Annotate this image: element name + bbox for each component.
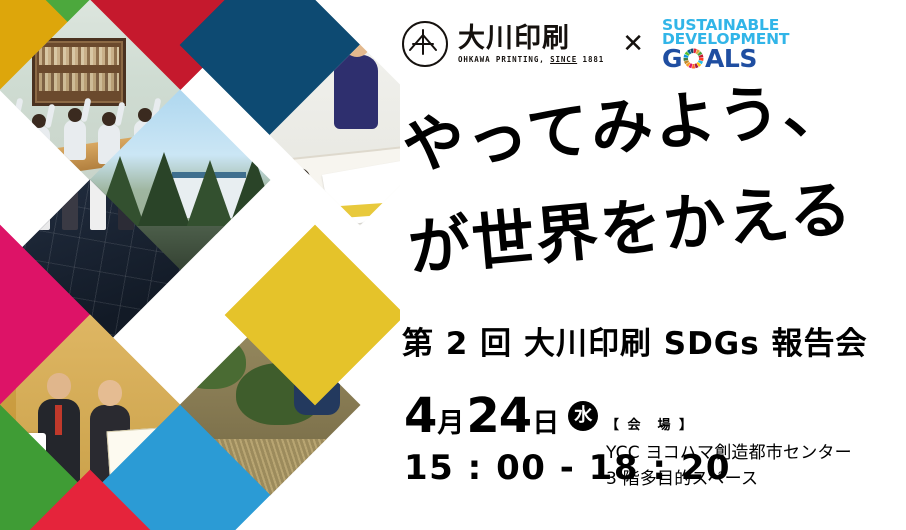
event-month-unit: 月: [437, 410, 464, 437]
event-subtitle: 第 2 回 大川印刷 SDGs 報告会: [402, 318, 868, 363]
venue-block: 【 会 場 】 YCC ヨコハマ創造都市センター 3 階多目的スペース: [606, 414, 852, 493]
content-column: 大川印刷 OHKAWA PRINTING, SINCE 1881 ✕ SUSTA…: [380, 0, 906, 530]
headline: やってみよう、 が世界をかえる: [390, 96, 900, 288]
sdg-color-wheel-icon: [683, 48, 704, 69]
photo-mosaic: SDGs: [0, 0, 400, 530]
venue-label: 【 会 場 】: [606, 414, 852, 433]
event-month-number: 4: [404, 392, 436, 440]
event-day-unit: 日: [532, 410, 559, 437]
venue-room: 3 階多目的スペース: [606, 466, 852, 492]
ohkawa-logo-text: 大川印刷 OHKAWA PRINTING, SINCE 1881: [458, 25, 604, 64]
ohkawa-name-en: OHKAWA PRINTING, SINCE 1881: [458, 56, 604, 64]
multiply-icon: ✕: [622, 31, 644, 57]
logo-row: 大川印刷 OHKAWA PRINTING, SINCE 1881 ✕ SUSTA…: [402, 18, 789, 70]
ohkawa-name-jp: 大川印刷: [458, 25, 604, 52]
poster-root: SDGs 大川印刷 OHKAW: [0, 0, 906, 530]
venue-name: YCC ヨコハマ創造都市センター: [606, 440, 852, 466]
sdg-g-letter: G: [662, 47, 682, 70]
ohkawa-logo: 大川印刷 OHKAWA PRINTING, SINCE 1881: [402, 21, 604, 67]
event-day-number: 24: [466, 392, 531, 440]
ohkawa-circle-mark-icon: [402, 21, 448, 67]
event-day-of-week-badge: 水: [568, 401, 598, 431]
